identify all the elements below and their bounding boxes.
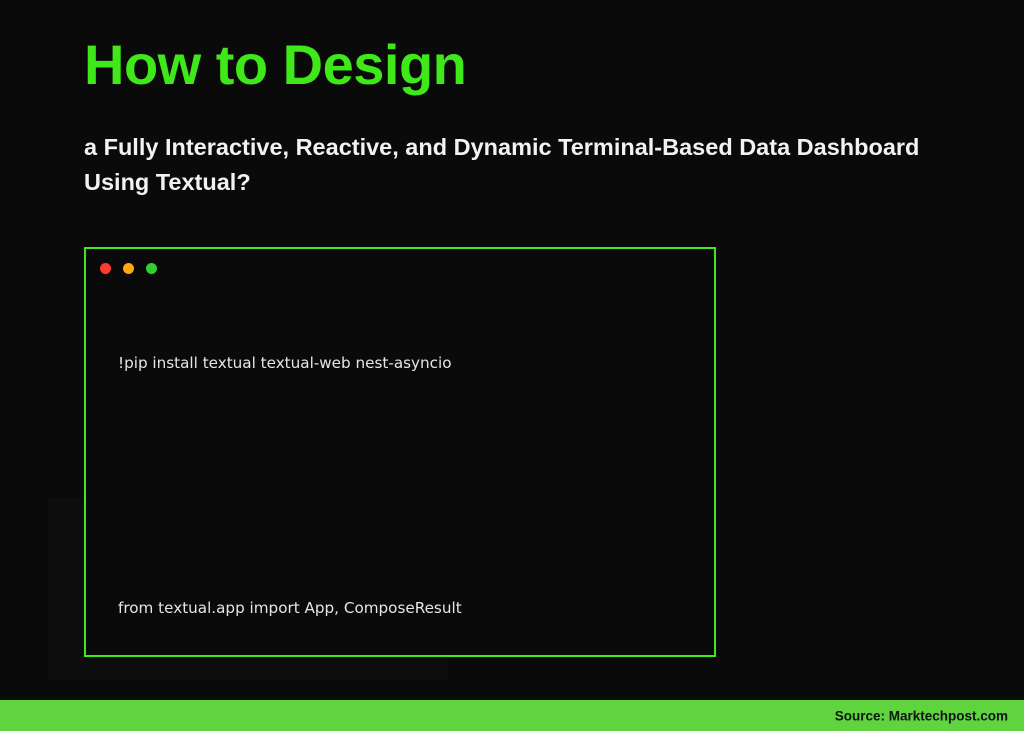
slide-root: How to Design a Fully Interactive, React…	[0, 0, 1024, 731]
close-window-icon[interactable]	[100, 263, 111, 274]
terminal-window: !pip install textual textual-web nest-as…	[84, 247, 716, 657]
code-line-blank	[118, 432, 704, 459]
code-line: from textual.app import App, ComposeResu…	[118, 595, 704, 622]
terminal-titlebar	[100, 263, 157, 274]
source-attribution: Source: Marktechpost.com	[835, 708, 1008, 723]
maximize-window-icon[interactable]	[146, 263, 157, 274]
code-line-blank	[118, 514, 704, 541]
page-subtitle: a Fully Interactive, Reactive, and Dynam…	[84, 130, 929, 200]
minimize-window-icon[interactable]	[123, 263, 134, 274]
code-line: !pip install textual textual-web nest-as…	[118, 350, 704, 377]
footer-bar: Source: Marktechpost.com	[0, 700, 1024, 731]
page-title: How to Design	[84, 36, 466, 95]
terminal-code-block: !pip install textual textual-web nest-as…	[118, 296, 704, 657]
